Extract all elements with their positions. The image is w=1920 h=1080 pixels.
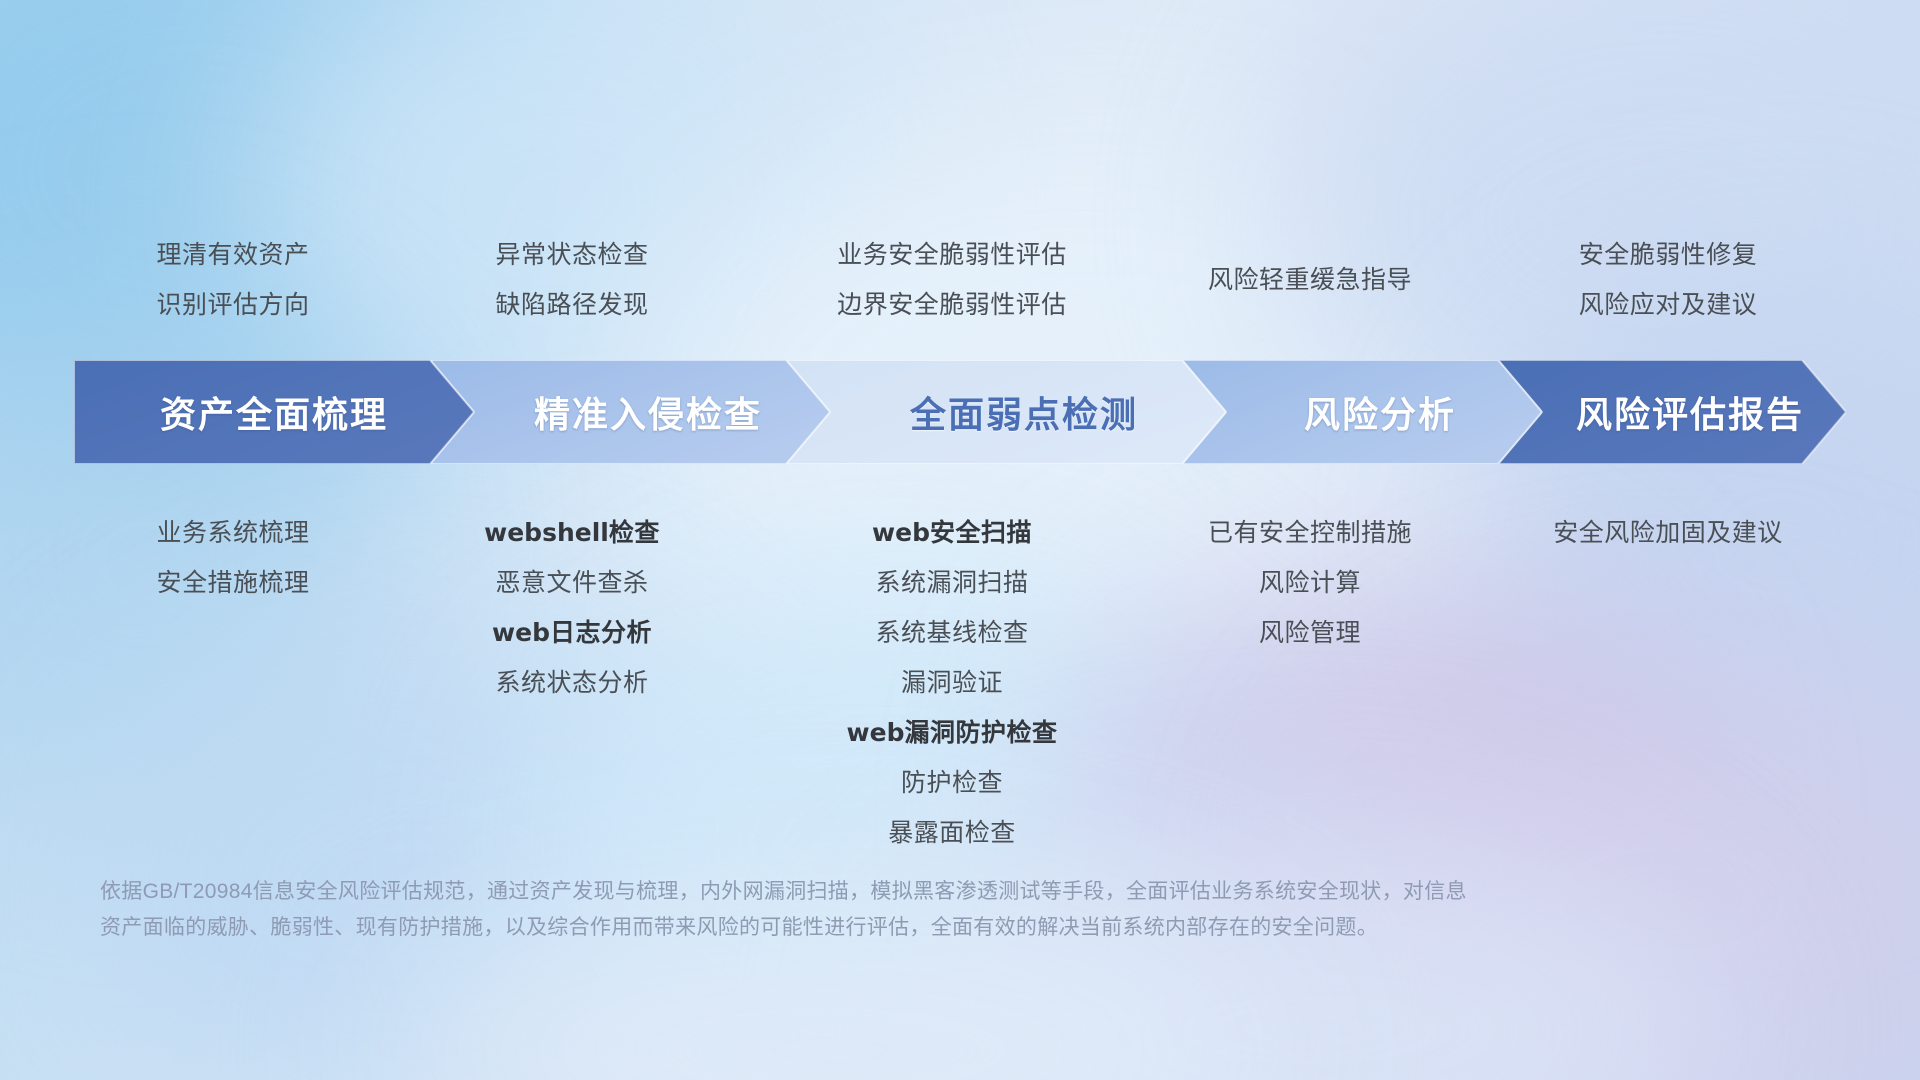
- note-text: 缺陷路径发现: [495, 280, 648, 330]
- note-text: 风险轻重缓急指导: [1208, 255, 1412, 305]
- note-text: 安全脆弱性修复: [1579, 230, 1758, 280]
- footer-line-2: 资产面临的威胁、脆弱性、现有防护措施，以及综合作用而带来风险的可能性进行评估，全…: [100, 910, 1660, 946]
- top-notes-intrusion-check: 异常状态检查缺陷路径发现: [402, 230, 742, 330]
- note-text: 边界安全脆弱性评估: [837, 280, 1067, 330]
- note-text: 风险应对及建议: [1579, 280, 1758, 330]
- bottom-notes-weakness-detection: web安全扫描系统漏洞扫描系统基线检查漏洞验证web漏洞防护检查防护检查暴露面检…: [742, 508, 1162, 858]
- chevron-stage-risk-analysis[interactable]: 风险分析: [1182, 360, 1542, 464]
- footer-description: 依据GB/T20984信息安全风险评估规范，通过资产发现与梳理，内外网漏洞扫描，…: [100, 874, 1660, 946]
- note-text: web漏洞防护检查: [847, 708, 1058, 758]
- note-cjk-part: 漏洞防护检查: [904, 719, 1057, 747]
- note-text: 系统状态分析: [495, 658, 648, 708]
- note-text: webshell检查: [484, 508, 660, 558]
- footer-line-1: 依据GB/T20984信息安全风险评估规范，通过资产发现与梳理，内外网漏洞扫描，…: [100, 874, 1660, 910]
- chevron-stage-assessment-report[interactable]: 风险评估报告: [1498, 360, 1846, 464]
- note-cjk-part: 日志分析: [550, 619, 652, 647]
- note-latin-part: webshell: [484, 518, 609, 547]
- note-text: 业务系统梳理: [156, 508, 309, 558]
- note-text: 暴露面检查: [888, 808, 1016, 858]
- process-chevron-banner: 资产全面梳理精准入侵检查全面弱点检测风险分析风险评估报告: [74, 360, 1846, 464]
- note-text: 异常状态检查: [495, 230, 648, 280]
- note-latin-part: web: [492, 618, 550, 647]
- slide-canvas: 理清有效资产识别评估方向异常状态检查缺陷路径发现业务安全脆弱性评估边界安全脆弱性…: [0, 0, 1920, 1080]
- chevron-label: 风险分析: [1304, 386, 1456, 438]
- chevron-label: 风险评估报告: [1576, 386, 1804, 438]
- chevron-label: 精准入侵检查: [534, 386, 762, 438]
- note-text: 安全风险加固及建议: [1553, 508, 1783, 558]
- chevron-stage-intrusion-check[interactable]: 精准入侵检查: [430, 360, 830, 464]
- note-text: 业务安全脆弱性评估: [837, 230, 1067, 280]
- note-cjk-part: 安全扫描: [930, 519, 1032, 547]
- note-text: 系统漏洞扫描: [875, 558, 1028, 608]
- top-notes-asset-inventory: 理清有效资产识别评估方向: [68, 230, 398, 330]
- bottom-notes-asset-inventory: 业务系统梳理安全措施梳理: [68, 508, 398, 608]
- chevron-label: 资产全面梳理: [160, 386, 388, 438]
- note-text: 风险计算: [1259, 558, 1361, 608]
- chevron-stage-weakness-detection[interactable]: 全面弱点检测: [786, 360, 1226, 464]
- note-text: 系统基线检查: [875, 608, 1028, 658]
- note-text: web安全扫描: [872, 508, 1032, 558]
- note-text: 安全措施梳理: [156, 558, 309, 608]
- chevron-label: 全面弱点检测: [910, 386, 1138, 438]
- note-text: web日志分析: [492, 608, 652, 658]
- note-text: 漏洞验证: [901, 658, 1003, 708]
- note-text: 识别评估方向: [156, 280, 309, 330]
- note-text: 恶意文件查杀: [495, 558, 648, 608]
- note-latin-part: web: [872, 518, 930, 547]
- chevron-stage-asset-inventory[interactable]: 资产全面梳理: [74, 360, 474, 464]
- note-text: 风险管理: [1259, 608, 1361, 658]
- top-notes-assessment-report: 安全脆弱性修复风险应对及建议: [1488, 230, 1848, 330]
- bottom-notes-intrusion-check: webshell检查恶意文件查杀web日志分析系统状态分析: [402, 508, 742, 708]
- top-notes-risk-analysis: 风险轻重缓急指导: [1140, 255, 1480, 305]
- note-cjk-part: 检查: [609, 519, 660, 547]
- note-text: 理清有效资产: [156, 230, 309, 280]
- note-text: 已有安全控制措施: [1208, 508, 1412, 558]
- bottom-notes-risk-analysis: 已有安全控制措施风险计算风险管理: [1140, 508, 1480, 658]
- note-text: 防护检查: [901, 758, 1003, 808]
- note-latin-part: web: [847, 718, 905, 747]
- top-notes-weakness-detection: 业务安全脆弱性评估边界安全脆弱性评估: [742, 230, 1162, 330]
- bottom-notes-assessment-report: 安全风险加固及建议: [1488, 508, 1848, 558]
